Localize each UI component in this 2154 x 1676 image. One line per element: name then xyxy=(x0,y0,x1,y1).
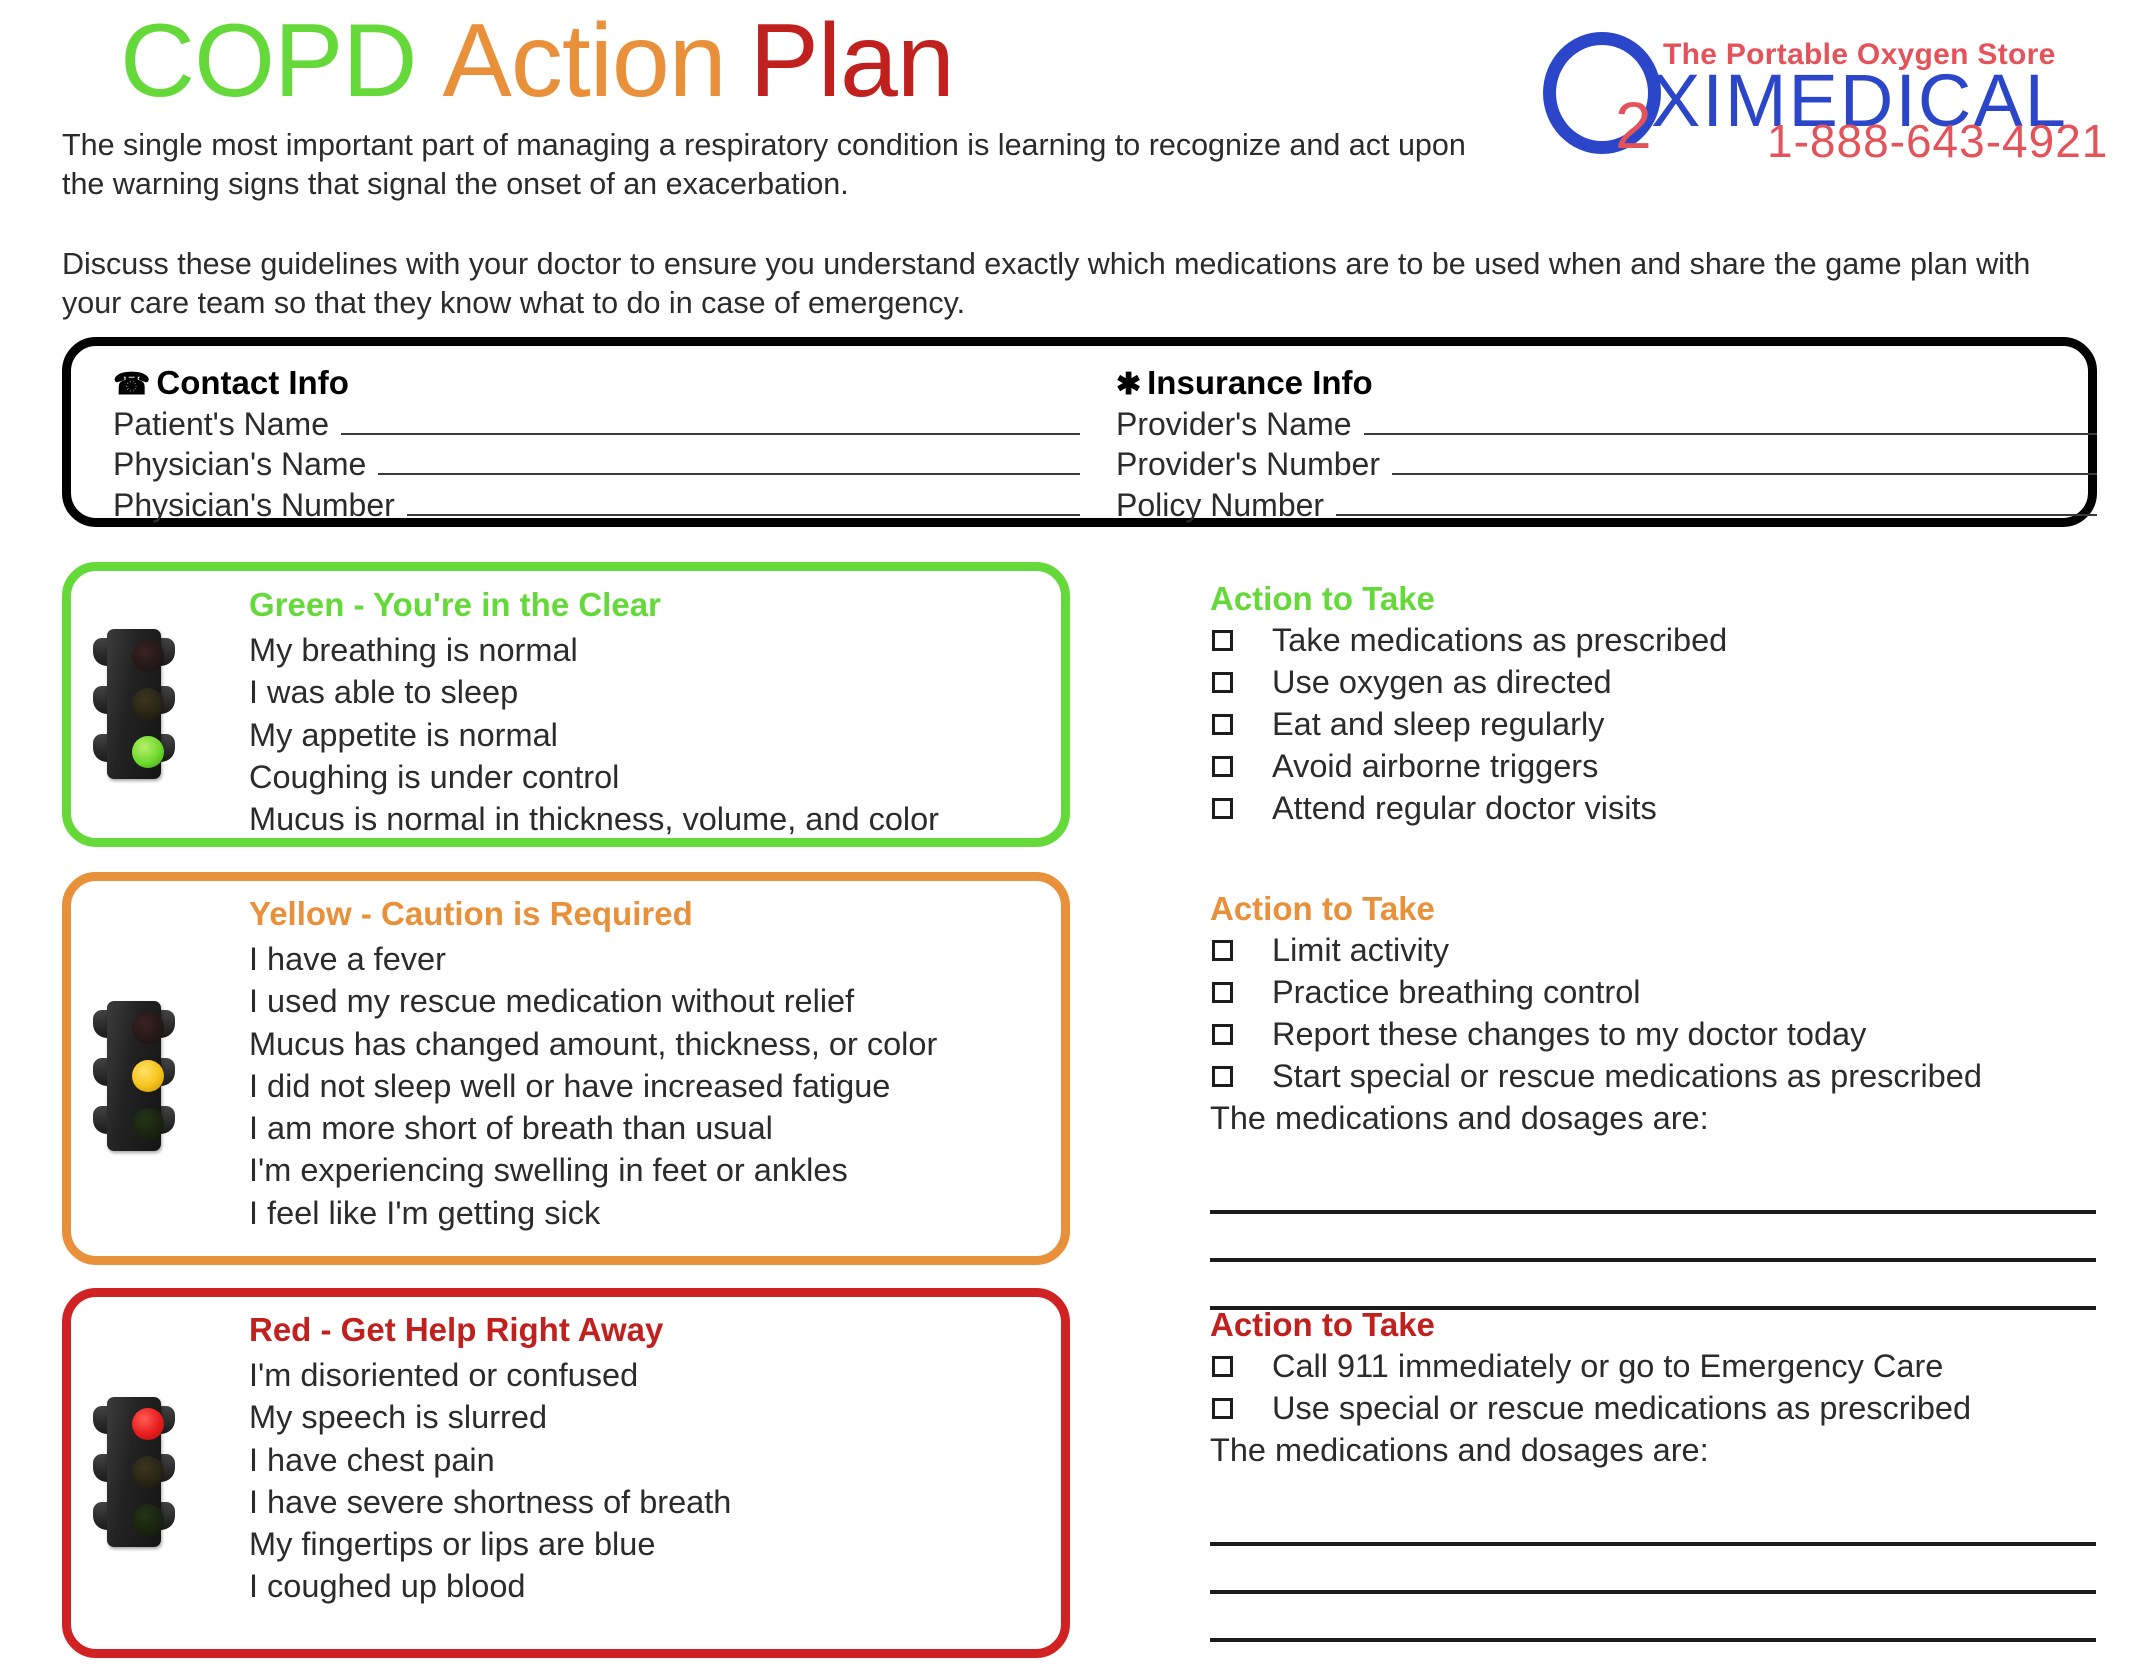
zone-title-yellow: Yellow - Caution is Required xyxy=(249,895,693,933)
action-item[interactable]: Limit activity xyxy=(1210,929,2110,971)
traffic-lamp-green xyxy=(132,1504,164,1536)
traffic-light-body xyxy=(107,1001,161,1151)
traffic-light-red-icon xyxy=(93,1397,175,1547)
action-item[interactable]: Use oxygen as directed xyxy=(1210,661,2110,703)
medications-dosages-label-red: The medications and dosages are: xyxy=(1210,1429,2110,1471)
action-item[interactable]: Call 911 immediately or go to Emergency … xyxy=(1210,1345,2110,1387)
zone-title-green: Green - You're in the Clear xyxy=(249,586,661,624)
patient-name-field[interactable]: Patient's Name xyxy=(113,404,1098,445)
telephone-icon: ☎ xyxy=(113,368,156,401)
provider-number-input[interactable] xyxy=(1392,447,2097,475)
physician-name-label: Physician's Name xyxy=(113,444,366,485)
guidelines-paragraph: Discuss these guidelines with your docto… xyxy=(62,245,2092,323)
provider-number-label: Provider's Number xyxy=(1116,444,1380,485)
insurance-info-heading-label: Insurance Info xyxy=(1147,364,1373,401)
write-line[interactable] xyxy=(1210,1498,2096,1546)
action-title-red: Action to Take xyxy=(1210,1304,2110,1345)
action-item[interactable]: Eat and sleep regularly xyxy=(1210,703,2110,745)
provider-name-field[interactable]: Provider's Name xyxy=(1116,404,2101,445)
physician-name-input[interactable] xyxy=(378,447,1080,475)
traffic-lamp-green xyxy=(132,736,164,768)
checkbox[interactable] xyxy=(1212,798,1233,819)
list-item: I have a fever xyxy=(249,938,937,980)
zone-symptom-list-red: I'm disoriented or confused My speech is… xyxy=(249,1354,731,1608)
checkbox[interactable] xyxy=(1212,630,1233,651)
checkbox[interactable] xyxy=(1212,714,1233,735)
action-column-green: Action to Take Take medications as presc… xyxy=(1210,578,2110,829)
checkbox[interactable] xyxy=(1212,1066,1233,1087)
insurance-info-column: ✱Insurance Info Provider's Name Provider… xyxy=(1116,362,2101,526)
list-item: Mucus is normal in thickness, volume, an… xyxy=(249,798,939,840)
action-item[interactable]: Use special or rescue medications as pre… xyxy=(1210,1387,2110,1429)
action-column-yellow: Action to Take Limit activity Practice b… xyxy=(1210,888,2110,1310)
traffic-light-yellow-icon xyxy=(93,1001,175,1151)
physician-number-field[interactable]: Physician's Number xyxy=(113,485,1098,526)
traffic-lamp-red xyxy=(132,640,164,672)
medications-write-lines-red xyxy=(1210,1498,2110,1642)
write-line[interactable] xyxy=(1210,1214,2096,1262)
title-word-copd: COPD xyxy=(120,3,416,119)
traffic-lamp-green xyxy=(132,1108,164,1140)
traffic-light-body xyxy=(107,1397,161,1547)
contact-info-heading: ☎Contact Info xyxy=(113,362,1098,404)
action-item[interactable]: Take medications as prescribed xyxy=(1210,619,2110,661)
provider-number-field[interactable]: Provider's Number xyxy=(1116,444,2101,485)
action-title-yellow: Action to Take xyxy=(1210,888,2110,929)
list-item: I was able to sleep xyxy=(249,671,939,713)
provider-name-input[interactable] xyxy=(1364,407,2097,435)
list-item: Coughing is under control xyxy=(249,756,939,798)
traffic-light-green-icon xyxy=(93,629,175,779)
traffic-light-body xyxy=(107,629,161,779)
logo-subscript-2: 2 xyxy=(1615,92,1652,158)
patient-name-label: Patient's Name xyxy=(113,404,329,445)
zone-box-red: Red - Get Help Right Away I'm disoriente… xyxy=(62,1288,1070,1658)
action-item[interactable]: Attend regular doctor visits xyxy=(1210,787,2110,829)
title-word-action: Action xyxy=(416,3,725,119)
list-item: I did not sleep well or have increased f… xyxy=(249,1065,937,1107)
provider-name-label: Provider's Name xyxy=(1116,404,1352,445)
list-item: My appetite is normal xyxy=(249,714,939,756)
patient-name-input[interactable] xyxy=(341,407,1080,435)
action-item[interactable]: Start special or rescue medications as p… xyxy=(1210,1055,2110,1097)
list-item: I'm experiencing swelling in feet or ank… xyxy=(249,1149,937,1191)
write-line[interactable] xyxy=(1210,1594,2096,1642)
zone-box-yellow: Yellow - Caution is Required I have a fe… xyxy=(62,872,1070,1265)
page-title: COPDActionPlan xyxy=(120,4,954,118)
action-item-label: Report these changes to my doctor today xyxy=(1272,1013,1866,1055)
policy-number-input[interactable] xyxy=(1336,488,2097,516)
logo-phone-number: 1-888-643-4921 xyxy=(1767,114,2108,168)
company-logo: 2 The Portable Oxygen Store XIMEDICAL 1-… xyxy=(1543,10,2143,175)
list-item: I'm disoriented or confused xyxy=(249,1354,731,1396)
write-line[interactable] xyxy=(1210,1546,2096,1594)
physician-name-field[interactable]: Physician's Name xyxy=(113,444,1098,485)
physician-number-label: Physician's Number xyxy=(113,485,395,526)
list-item: My fingertips or lips are blue xyxy=(249,1523,731,1565)
checkbox[interactable] xyxy=(1212,1398,1233,1419)
zone-symptom-list-green: My breathing is normal I was able to sle… xyxy=(249,629,939,840)
action-title-green: Action to Take xyxy=(1210,578,2110,619)
list-item: I coughed up blood xyxy=(249,1565,731,1607)
asterisk-icon: ✱ xyxy=(1116,368,1147,401)
physician-number-input[interactable] xyxy=(407,488,1080,516)
medications-dosages-label-yellow: The medications and dosages are: xyxy=(1210,1097,2110,1139)
insurance-info-heading: ✱Insurance Info xyxy=(1116,362,2101,404)
action-item-label: Take medications as prescribed xyxy=(1272,619,1727,661)
checkbox[interactable] xyxy=(1212,756,1233,777)
list-item: I am more short of breath than usual xyxy=(249,1107,937,1149)
zone-symptom-list-yellow: I have a fever I used my rescue medicati… xyxy=(249,938,937,1234)
traffic-lamp-red xyxy=(132,1408,164,1440)
list-item: Mucus has changed amount, thickness, or … xyxy=(249,1023,937,1065)
zone-box-green: Green - You're in the Clear My breathing… xyxy=(62,562,1070,847)
checkbox[interactable] xyxy=(1212,1356,1233,1377)
checkbox[interactable] xyxy=(1212,982,1233,1003)
list-item: I have severe shortness of breath xyxy=(249,1481,731,1523)
action-item-label: Attend regular doctor visits xyxy=(1272,787,1657,829)
write-line[interactable] xyxy=(1210,1166,2096,1214)
action-item-label: Start special or rescue medications as p… xyxy=(1272,1055,1982,1097)
action-item-label: Eat and sleep regularly xyxy=(1272,703,1604,745)
policy-number-field[interactable]: Policy Number xyxy=(1116,485,2101,526)
checkbox[interactable] xyxy=(1212,1024,1233,1045)
action-item[interactable]: Report these changes to my doctor today xyxy=(1210,1013,2110,1055)
contact-info-heading-label: Contact Info xyxy=(156,364,348,401)
write-line[interactable] xyxy=(1210,1262,2096,1310)
traffic-lamp-yellow xyxy=(132,1456,164,1488)
traffic-lamp-yellow xyxy=(132,1060,164,1092)
contact-insurance-box: ☎Contact Info Patient's Name Physician's… xyxy=(62,337,2097,527)
page-header: COPDActionPlan The single most important… xyxy=(0,0,2154,330)
medications-write-lines-yellow xyxy=(1210,1166,2110,1310)
checkbox[interactable] xyxy=(1212,672,1233,693)
checkbox[interactable] xyxy=(1212,940,1233,961)
action-item[interactable]: Practice breathing control xyxy=(1210,971,2110,1013)
policy-number-label: Policy Number xyxy=(1116,485,1324,526)
list-item: My speech is slurred xyxy=(249,1396,731,1438)
action-item[interactable]: Avoid airborne triggers xyxy=(1210,745,2110,787)
action-item-label: Practice breathing control xyxy=(1272,971,1641,1013)
intro-paragraph: The single most important part of managi… xyxy=(62,126,1482,204)
traffic-lamp-yellow xyxy=(132,688,164,720)
list-item: My breathing is normal xyxy=(249,629,939,671)
action-column-red: Action to Take Call 911 immediately or g… xyxy=(1210,1304,2110,1642)
action-item-label: Use special or rescue medications as pre… xyxy=(1272,1387,1971,1429)
action-item-label: Call 911 immediately or go to Emergency … xyxy=(1272,1345,1943,1387)
list-item: I have chest pain xyxy=(249,1439,731,1481)
title-word-plan: Plan xyxy=(726,3,954,119)
traffic-lamp-red xyxy=(132,1012,164,1044)
action-item-label: Use oxygen as directed xyxy=(1272,661,1612,703)
list-item: I used my rescue medication without reli… xyxy=(249,980,937,1022)
action-item-label: Avoid airborne triggers xyxy=(1272,745,1598,787)
zone-title-red: Red - Get Help Right Away xyxy=(249,1311,663,1349)
list-item: I feel like I'm getting sick xyxy=(249,1192,937,1234)
contact-info-column: ☎Contact Info Patient's Name Physician's… xyxy=(113,362,1098,526)
action-item-label: Limit activity xyxy=(1272,929,1449,971)
